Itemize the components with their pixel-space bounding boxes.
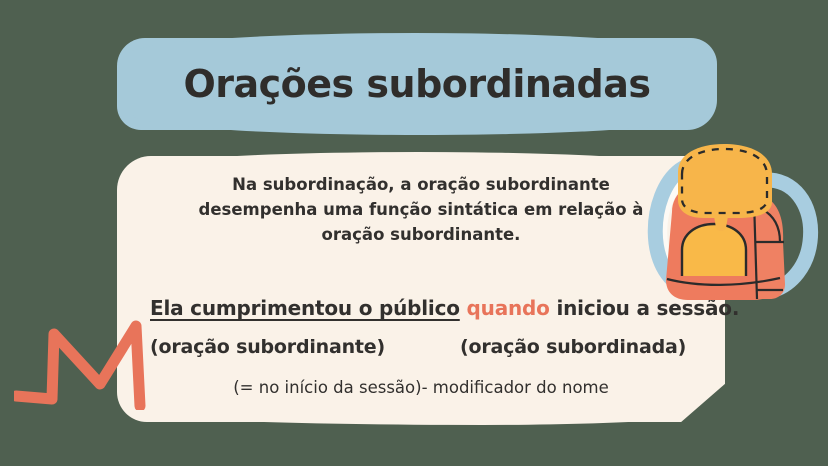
label-subordinate-clause: (oração subordinada) — [460, 336, 686, 358]
definition-text: Na subordinação, a oração subordinante d… — [177, 172, 665, 247]
example-conjunction: quando — [467, 296, 550, 320]
example-sentence: Ela cumprimentou o público quando inicio… — [150, 296, 710, 320]
page-title: Orações subordinadas — [117, 62, 717, 106]
example-space-1 — [460, 296, 467, 320]
example-main-clause: Ela cumprimentou o público — [150, 296, 460, 320]
title-banner: Orações subordinadas — [117, 38, 717, 130]
label-main-clause: (oração subordinante) — [150, 336, 385, 358]
backpack-icon — [628, 138, 824, 302]
footnote-text: (= no início da sessão)- modificador do … — [157, 378, 685, 397]
slide-canvas: Orações subordinadas Na subordinação, a … — [0, 0, 828, 466]
zigzag-line-icon — [14, 300, 154, 410]
